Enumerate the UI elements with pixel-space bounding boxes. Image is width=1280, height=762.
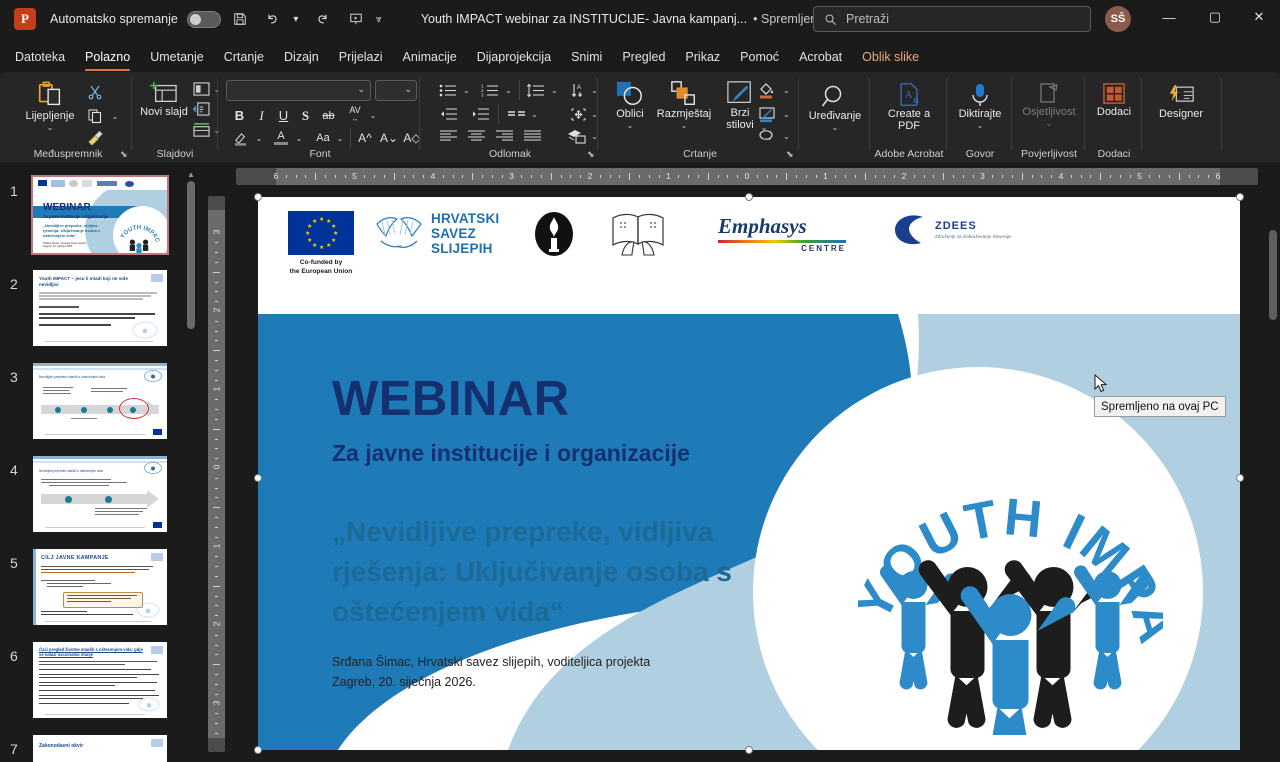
drawing-dialog-launcher[interactable]: ⬊	[786, 149, 794, 160]
ruler-tick: 2	[896, 171, 912, 181]
ruler-minor-mark	[215, 252, 218, 253]
hss-line2: SAVEZ	[431, 226, 499, 241]
change-case-chevron-icon[interactable]: ⌄	[334, 128, 346, 148]
braille-hands-logo	[608, 209, 668, 264]
paste-button[interactable]: Lijepljenje ⌄	[18, 80, 82, 134]
sensitivity-label: Osjetljivost	[1022, 106, 1075, 118]
thumbnail-slide-7[interactable]: Zakonodavni okvir	[33, 735, 167, 762]
slide-quote[interactable]: „Nevidljive prepreke, vidljiva rješenja:…	[332, 512, 802, 632]
search-input[interactable]: Pretraži	[813, 6, 1091, 32]
thumbnail-heading: Čaći pregled životne mladih s oštećenjem…	[39, 647, 145, 657]
ruler-minor-mark	[649, 175, 650, 178]
ruler-minor-mark	[213, 429, 220, 430]
columns-chevron-icon[interactable]: ⌄	[528, 104, 541, 124]
canvas-scrollbar-thumb[interactable]	[1269, 230, 1277, 320]
ruler-minor-mark	[215, 517, 218, 518]
justify-button[interactable]	[520, 126, 544, 146]
ruler-minor-mark	[1110, 175, 1111, 178]
tab-umetanje[interactable]: Umetanje	[140, 47, 214, 67]
thumbnail-number: 4	[10, 462, 18, 478]
ruler-minor-mark	[215, 399, 218, 400]
ruler-minor-mark	[215, 282, 218, 283]
ruler-minor-mark	[688, 175, 689, 178]
group-label-slides: Slajdovi	[132, 148, 218, 160]
editing-button[interactable]: Uređivanje ⌄	[803, 84, 867, 134]
line-spacing-button[interactable]	[524, 80, 548, 100]
ribbon-group-designer: Designer	[1142, 72, 1222, 162]
tab-pregled[interactable]: Pregled	[612, 47, 675, 67]
selection-handle-top-center[interactable]	[745, 193, 753, 201]
slide-thumbnail-panel[interactable]: 1 WEBINAR Za javne institucije i organiz…	[0, 165, 199, 762]
ruler-tick: 4	[1053, 171, 1069, 181]
ruler-minor-mark	[1032, 175, 1033, 178]
character-spacing-chevron-icon[interactable]: ⌄	[367, 106, 379, 125]
ruler-minor-mark	[404, 175, 405, 178]
dictate-chevron-icon[interactable]: ⌄	[977, 120, 984, 132]
thumbnail-heading: Youth IMPACT – jesu li mladi koji ne vid…	[39, 276, 139, 287]
ruler-minor-mark	[570, 175, 571, 178]
group-label-acrobat: Adobe Acrobat	[871, 148, 947, 160]
ruler-minor-mark	[453, 175, 454, 178]
shapes-label: Oblici	[616, 108, 644, 120]
shape-effects-button[interactable]	[755, 126, 779, 146]
paragraph-dialog-launcher[interactable]: ⬊	[587, 149, 595, 160]
scrollbar-thumb[interactable]	[187, 181, 195, 329]
increase-font-size-button[interactable]: A^	[354, 128, 376, 148]
thumbnail-slide-2[interactable]: Youth IMPACT – jesu li mladi koji ne vid…	[33, 270, 167, 346]
ruler-tick: 0	[739, 171, 755, 181]
addins-label: Dodaci	[1097, 106, 1131, 118]
font-size-chevron-icon[interactable]: ⌄	[404, 84, 412, 95]
canvas-scrollbar[interactable]	[1266, 190, 1280, 762]
emphasys-text: Emphasys	[718, 214, 846, 239]
autosave-label: Automatsko spremanje	[50, 12, 178, 26]
convert-to-smartart-button[interactable]	[565, 126, 589, 146]
youth-impact-logo[interactable]: YOUTH IMPACT	[858, 435, 1163, 735]
ruler-minor-mark	[364, 175, 365, 178]
ruler-minor-mark	[215, 674, 218, 675]
section-icon[interactable]	[190, 120, 212, 140]
ruler-tick: 1	[661, 171, 677, 181]
thumbnail-number: 7	[10, 741, 18, 757]
ruler-minor-mark	[806, 175, 807, 178]
ruler-minor-mark	[215, 409, 218, 410]
tab-acrobat[interactable]: Acrobat	[789, 47, 852, 67]
ruler-minor-mark	[678, 175, 679, 178]
find-icon	[821, 84, 849, 110]
slide-canvas[interactable]: ★ ★ ★ ★ ★ ★ ★ ★ ★ ★ ★ ★ Co-funded by the…	[258, 197, 1240, 750]
zdres-subtext: Združenje za izobraževanje Slovenije	[935, 234, 1011, 240]
slide-panel-scrollbar[interactable]: ▲	[185, 165, 197, 762]
ruler-minor-mark	[845, 175, 846, 178]
bullets-chevron-icon[interactable]: ⌄	[460, 80, 473, 100]
cut-icon[interactable]	[84, 82, 106, 102]
ruler-minor-mark	[561, 175, 562, 178]
dictate-button[interactable]: Diktirajte ⌄	[951, 82, 1009, 132]
ruler-tick: 6	[268, 171, 284, 181]
tab-crtanje[interactable]: Crtanje	[214, 47, 274, 67]
tab-prijelazi[interactable]: Prijelazi	[329, 47, 393, 67]
shape-effects-chevron-icon[interactable]: ⌄	[780, 126, 793, 146]
thumbnail-slide-1[interactable]: WEBINAR Za javne institucije i organizac…	[33, 177, 167, 253]
ruler-minor-mark	[215, 605, 218, 606]
ruler-minor-mark	[875, 175, 876, 178]
create-pdf-button[interactable]: A Create a PDF	[877, 82, 941, 132]
group-label-addins: Dodaci	[1086, 148, 1142, 160]
tab-snimi[interactable]: Snimi	[561, 47, 612, 67]
text-direction-button[interactable]: A	[567, 80, 589, 100]
ruler-minor-mark	[374, 175, 375, 178]
quote-line-1: „Nevidljive prepreke, vidljiva	[332, 512, 802, 552]
shape-outline-button[interactable]	[755, 104, 779, 124]
group-label-sensitivity: Povjerljivost	[1013, 148, 1085, 160]
avatar[interactable]: SŠ	[1105, 6, 1131, 32]
tab-prikaz[interactable]: Prikaz	[675, 47, 730, 67]
ruler-minor-mark	[708, 173, 709, 180]
designer-icon	[1167, 84, 1195, 108]
ruler-minor-mark	[1149, 175, 1150, 178]
ruler-minor-mark	[213, 507, 220, 508]
tab-datoteka[interactable]: Datoteka	[5, 47, 75, 67]
thumbnail-slide-3[interactable]: Nevidljive prepreke mladih s oštećenjem …	[33, 363, 167, 439]
ruler-minor-mark	[215, 723, 218, 724]
group-label-font: Font	[220, 148, 420, 160]
line-spacing-chevron-icon[interactable]: ⌄	[548, 80, 561, 100]
zdres-text: ZDEES	[935, 220, 1011, 232]
tab-dizajn[interactable]: Dizajn	[274, 47, 329, 67]
ruler-minor-mark	[213, 350, 220, 351]
tab-dijaprojekcija[interactable]: Dijaprojekcija	[467, 47, 561, 67]
highlight-chevron-icon[interactable]: ⌄	[253, 128, 265, 148]
ruler-minor-mark	[462, 175, 463, 178]
partner-logo-bar: ★ ★ ★ ★ ★ ★ ★ ★ ★ ★ ★ ★ Co-funded by the…	[258, 197, 1240, 289]
sensitivity-button[interactable]: Osjetljivost ⌄	[1016, 82, 1082, 130]
ruler-minor-mark	[215, 556, 218, 557]
eu-caption-line2: the European Union	[288, 267, 354, 276]
dictate-label: Diktirajte	[959, 108, 1002, 120]
ruler-minor-mark	[1159, 175, 1160, 178]
bullets-button[interactable]	[436, 80, 460, 100]
search-placeholder: Pretraži	[846, 12, 889, 26]
ribbon-group-speech: Diktirajte ⌄ Govor	[948, 72, 1012, 162]
ruler-tick: 3	[212, 694, 222, 711]
ruler-tick: 1	[212, 537, 222, 554]
ruler-minor-mark	[215, 497, 218, 498]
ruler-minor-mark	[884, 175, 885, 178]
addins-button[interactable]: Dodaci	[1089, 82, 1139, 118]
powerpoint-icon: P	[14, 8, 36, 30]
start-presentation-icon[interactable]	[342, 6, 370, 32]
ruler-minor-mark	[215, 645, 218, 646]
ruler-minor-mark	[943, 173, 944, 180]
ruler-minor-mark	[698, 175, 699, 178]
bold-button[interactable]: B	[230, 106, 249, 125]
slide-byline[interactable]: Srđana Šimac, Hrvatski savez slijepih, v…	[332, 652, 650, 692]
hss-line3: SLIJEPIH	[431, 241, 499, 256]
horizontal-ruler[interactable]: 6543210123456	[236, 168, 1258, 185]
undo-dropdown-icon[interactable]: ▾	[288, 6, 304, 32]
ruler-minor-mark	[600, 175, 601, 178]
shapes-button[interactable]: Oblici ⌄	[608, 80, 652, 132]
ruler-tick: 0	[212, 459, 222, 476]
align-left-button[interactable]	[436, 126, 460, 146]
ruler-minor-mark	[1169, 175, 1170, 178]
quick-styles-icon	[726, 80, 754, 107]
shape-fill-button[interactable]	[755, 80, 779, 100]
text-shadow-button[interactable]: S	[296, 106, 315, 125]
ruler-minor-mark	[727, 175, 728, 178]
copy-icon[interactable]	[84, 106, 106, 126]
ribbon-group-slides: Novi slajd ⌄ ⌄ Slajdovi	[132, 72, 218, 162]
byline-line-2: Zagreb, 20. siječnja 2026.	[332, 672, 650, 692]
ruler-minor-mark	[215, 566, 218, 567]
title-bar: P Automatsko spremanje ▾ ⩔ Youth IMPACT …	[0, 0, 1280, 38]
addins-icon	[1102, 82, 1127, 106]
close-button[interactable]: ✕	[1236, 0, 1280, 34]
align-center-button[interactable]	[464, 126, 488, 146]
sensitivity-icon	[1036, 82, 1062, 106]
ruler-minor-mark	[215, 321, 218, 322]
ruler-tick: 5	[1132, 171, 1148, 181]
hss-line1: HRVATSKI	[431, 211, 499, 226]
vertical-ruler[interactable]: 3210123	[208, 196, 225, 752]
autosave-toggle[interactable]	[187, 11, 221, 28]
thumbnail-number: 6	[10, 648, 18, 664]
maximize-button[interactable]: ▢	[1192, 0, 1238, 34]
align-right-button[interactable]	[492, 126, 516, 146]
paste-label: Lijepljenje	[26, 110, 75, 122]
scroll-up-icon[interactable]: ▲	[185, 167, 197, 181]
paste-icon	[35, 80, 65, 110]
mouse-cursor	[1094, 374, 1108, 399]
thumbnail-slide-5[interactable]: CILJ JAVNE KAMPANJE	[33, 549, 167, 625]
ruler-minor-mark	[215, 478, 218, 479]
ruler-minor-mark	[215, 262, 218, 263]
ruler-minor-mark	[541, 175, 542, 178]
ruler-minor-mark	[215, 635, 218, 636]
save-icon[interactable]	[226, 6, 254, 32]
arrange-chevron-icon[interactable]: ⌄	[681, 120, 688, 132]
change-case-button[interactable]: Aa	[310, 128, 336, 148]
ruler-minor-mark	[1002, 175, 1003, 178]
eu-caption-line1: Co-funded by	[288, 258, 354, 267]
ruler-tick: 4	[425, 171, 441, 181]
ruler-tick: 3	[975, 171, 991, 181]
ruler-tick: 3	[504, 171, 520, 181]
ruler-minor-mark	[394, 173, 395, 180]
ruler-minor-mark	[992, 175, 993, 178]
decrease-indent-button[interactable]	[436, 104, 460, 124]
ruler-minor-mark	[786, 173, 787, 180]
selection-handle-middle-left[interactable]	[254, 474, 262, 482]
ribbon-group-clipboard: Lijepljenje ⌄ ⌄ Međuspremnik ⬊	[4, 72, 132, 162]
ruler-tick: 2	[212, 302, 222, 319]
shapes-chevron-icon[interactable]: ⌄	[627, 120, 634, 132]
selection-handle-middle-right[interactable]	[1236, 474, 1244, 482]
reset-icon[interactable]	[190, 100, 212, 118]
group-label-speech: Govor	[948, 148, 1012, 160]
ruler-tick: 3	[212, 223, 222, 240]
arrange-button[interactable]: Razmještaj ⌄	[652, 80, 716, 132]
ruler-minor-mark	[215, 331, 218, 332]
ruler-minor-mark	[1012, 175, 1013, 178]
ruler-minor-mark	[305, 175, 306, 178]
torch-emblem-logo	[530, 210, 578, 263]
columns-button[interactable]	[504, 104, 528, 124]
ruler-minor-mark	[718, 175, 719, 178]
ruler-minor-mark	[215, 576, 218, 577]
slide-subtitle[interactable]: Za javne institucije i organizacije	[332, 440, 690, 467]
ruler-minor-mark	[215, 448, 218, 449]
redo-icon[interactable]	[309, 6, 337, 32]
shape-fill-chevron-icon[interactable]: ⌄	[780, 80, 793, 100]
font-name-chevron-icon[interactable]: ⌄	[357, 84, 365, 95]
ruler-minor-mark	[629, 173, 630, 180]
ruler-minor-mark	[215, 527, 218, 528]
ruler-minor-mark	[492, 175, 493, 178]
ruler-tick: 1	[212, 380, 222, 397]
ruler-minor-mark	[384, 175, 385, 178]
arrange-label: Razmještaj	[657, 108, 711, 120]
ruler-minor-mark	[1041, 175, 1042, 178]
slide-title[interactable]: WEBINAR	[332, 371, 570, 427]
emphasys-centre-logo: Emphasys CENTRE	[718, 214, 846, 253]
minimize-button[interactable]: —	[1146, 0, 1192, 34]
decrease-font-size-button[interactable]: A⌄	[378, 128, 400, 148]
thumbnail-number: 3	[10, 369, 18, 385]
font-name-input[interactable]: ⌄	[226, 80, 371, 101]
shape-outline-chevron-icon[interactable]: ⌄	[780, 104, 793, 124]
quote-line-3: oštećenjem vida“	[332, 592, 802, 632]
ruler-minor-mark	[1022, 173, 1023, 180]
ribbon-tab-bar: Datoteka Polazno Umetanje Crtanje Dizajn…	[0, 44, 1280, 70]
ruler-minor-mark	[215, 654, 218, 655]
ruler-minor-mark	[1189, 175, 1190, 178]
ruler-tick: 5	[347, 171, 363, 181]
tab-animacije[interactable]: Animacije	[393, 47, 467, 67]
layout-icon[interactable]	[190, 80, 212, 98]
ruler-minor-mark	[767, 175, 768, 178]
create-pdf-icon: A	[896, 82, 923, 108]
ruler-minor-mark	[1120, 175, 1121, 178]
document-title[interactable]: Youth IMPACT webinar za INSTITUCIJE- Jav…	[421, 12, 747, 26]
numbering-button[interactable]: 123	[478, 80, 502, 100]
tooltip: Spremljeno na ovaj PC	[1094, 396, 1226, 417]
ruler-minor-mark	[757, 175, 758, 178]
tab-oblik-slike[interactable]: Oblik slike	[852, 47, 929, 67]
selection-handle-bottom-center[interactable]	[745, 746, 753, 754]
thumbnail-slide-4[interactable]: Nevidljive prepreke mladih s oštećenjem …	[33, 456, 167, 532]
ruler-minor-mark	[933, 175, 934, 178]
ribbon-group-font: ⌄ ⌄ B I U S ab AV↔ ⌄ ⌄ A ⌄ Aa ⌄ A^ A⌄ A◇…	[220, 72, 420, 162]
ribbon-group-sensitivity: Osjetljivost ⌄ Povjerljivost	[1013, 72, 1085, 162]
designer-button[interactable]: Designer	[1147, 84, 1215, 120]
increase-indent-button[interactable]	[468, 104, 492, 124]
hands-braille-icon	[373, 212, 425, 256]
group-label-paragraph: Odlomak	[422, 148, 598, 160]
clipboard-dialog-launcher[interactable]: ⬊	[120, 149, 128, 160]
thumbnail-number: 2	[10, 276, 18, 292]
ruler-minor-mark	[215, 596, 218, 597]
ruler-minor-mark	[215, 439, 218, 440]
ruler-minor-mark	[215, 340, 218, 341]
editing-chevron-icon[interactable]: ⌄	[832, 122, 839, 134]
font-color-chevron-icon[interactable]: ⌄	[293, 128, 305, 148]
thumbnail-heading: CILJ JAVNE KAMPANJE	[41, 555, 109, 561]
underline-button[interactable]: U	[274, 106, 293, 125]
emphasys-subtext: CENTRE	[718, 244, 846, 253]
ruler-minor-mark	[413, 175, 414, 178]
ruler-minor-mark	[443, 175, 444, 178]
ruler-minor-mark	[531, 175, 532, 178]
ruler-minor-mark	[1179, 173, 1180, 180]
tab-polazno[interactable]: Polazno	[75, 47, 140, 67]
ribbon-group-drawing: Oblici ⌄ Razmještaj ⌄ Brzi stilovi ⌄ ⌄ ⌄	[600, 72, 800, 162]
ruler-minor-mark	[215, 370, 218, 371]
font-size-input[interactable]: ⌄	[375, 80, 417, 101]
thumbnail-slide-6[interactable]: Čaći pregled životne mladih s oštećenjem…	[33, 642, 167, 718]
undo-icon[interactable]	[259, 6, 287, 32]
thumbnail-heading: Zakonodavni okvir	[39, 743, 83, 749]
svg-text:3: 3	[481, 92, 484, 97]
thumbnail-heading: Nevidljive prepreke mladih s oštećenjem …	[39, 469, 133, 473]
sensitivity-chevron-icon[interactable]: ⌄	[1046, 118, 1053, 130]
ruler-minor-mark	[1071, 175, 1072, 178]
selection-handle-top-left[interactable]	[254, 193, 262, 201]
ruler-minor-mark	[472, 173, 473, 180]
text-highlight-color-button[interactable]	[230, 128, 252, 148]
ruler-minor-mark	[286, 175, 287, 178]
slide-canvas-area[interactable]: ★ ★ ★ ★ ★ ★ ★ ★ ★ ★ ★ ★ Co-funded by the…	[228, 190, 1280, 762]
ruler-minor-mark	[551, 173, 552, 180]
tab-pomoc[interactable]: Pomoć	[730, 47, 789, 67]
ruler-minor-mark	[215, 419, 218, 420]
copy-chevron-icon[interactable]: ⌄	[108, 106, 122, 126]
paste-chevron-icon[interactable]: ⌄	[47, 122, 54, 134]
ruler-minor-mark	[1198, 175, 1199, 178]
customize-qat-icon[interactable]: ⩔	[371, 6, 387, 32]
ruler-minor-mark	[953, 175, 954, 178]
selection-handle-top-right[interactable]	[1236, 193, 1244, 201]
align-text-button[interactable]	[567, 104, 589, 124]
strikethrough-button[interactable]: ab	[318, 106, 339, 125]
red-ellipse-annotation	[119, 398, 149, 419]
zdres-logo: ZDEES Združenje za izobraževanje Sloveni…	[893, 213, 1011, 247]
ruler-minor-mark	[914, 175, 915, 178]
new-slide-button[interactable]: Novi slajd	[138, 80, 190, 118]
ruler-minor-mark	[215, 488, 218, 489]
ruler-minor-mark	[963, 175, 964, 178]
microphone-icon	[969, 82, 991, 108]
numbering-chevron-icon[interactable]: ⌄	[502, 80, 515, 100]
selection-handle-bottom-left[interactable]	[254, 746, 262, 754]
ruler-minor-mark	[215, 242, 218, 243]
ruler-tick: 6	[1210, 171, 1226, 181]
ruler-minor-mark	[335, 175, 336, 178]
ruler-minor-mark	[215, 684, 218, 685]
format-painter-icon[interactable]	[84, 128, 106, 146]
italic-button[interactable]: I	[252, 106, 271, 125]
search-icon	[824, 13, 837, 26]
ruler-minor-mark	[855, 175, 856, 178]
thumbnail-heading: Nevidljive prepreke mladih s oštećenjem …	[39, 375, 133, 379]
font-color-button[interactable]: A	[270, 128, 292, 148]
ruler-minor-mark	[619, 175, 620, 178]
character-spacing-button[interactable]: AV↔	[343, 105, 367, 125]
ruler-tick: 2	[212, 616, 222, 633]
ruler-minor-mark	[1100, 173, 1101, 180]
ruler-tick: 1	[818, 171, 834, 181]
